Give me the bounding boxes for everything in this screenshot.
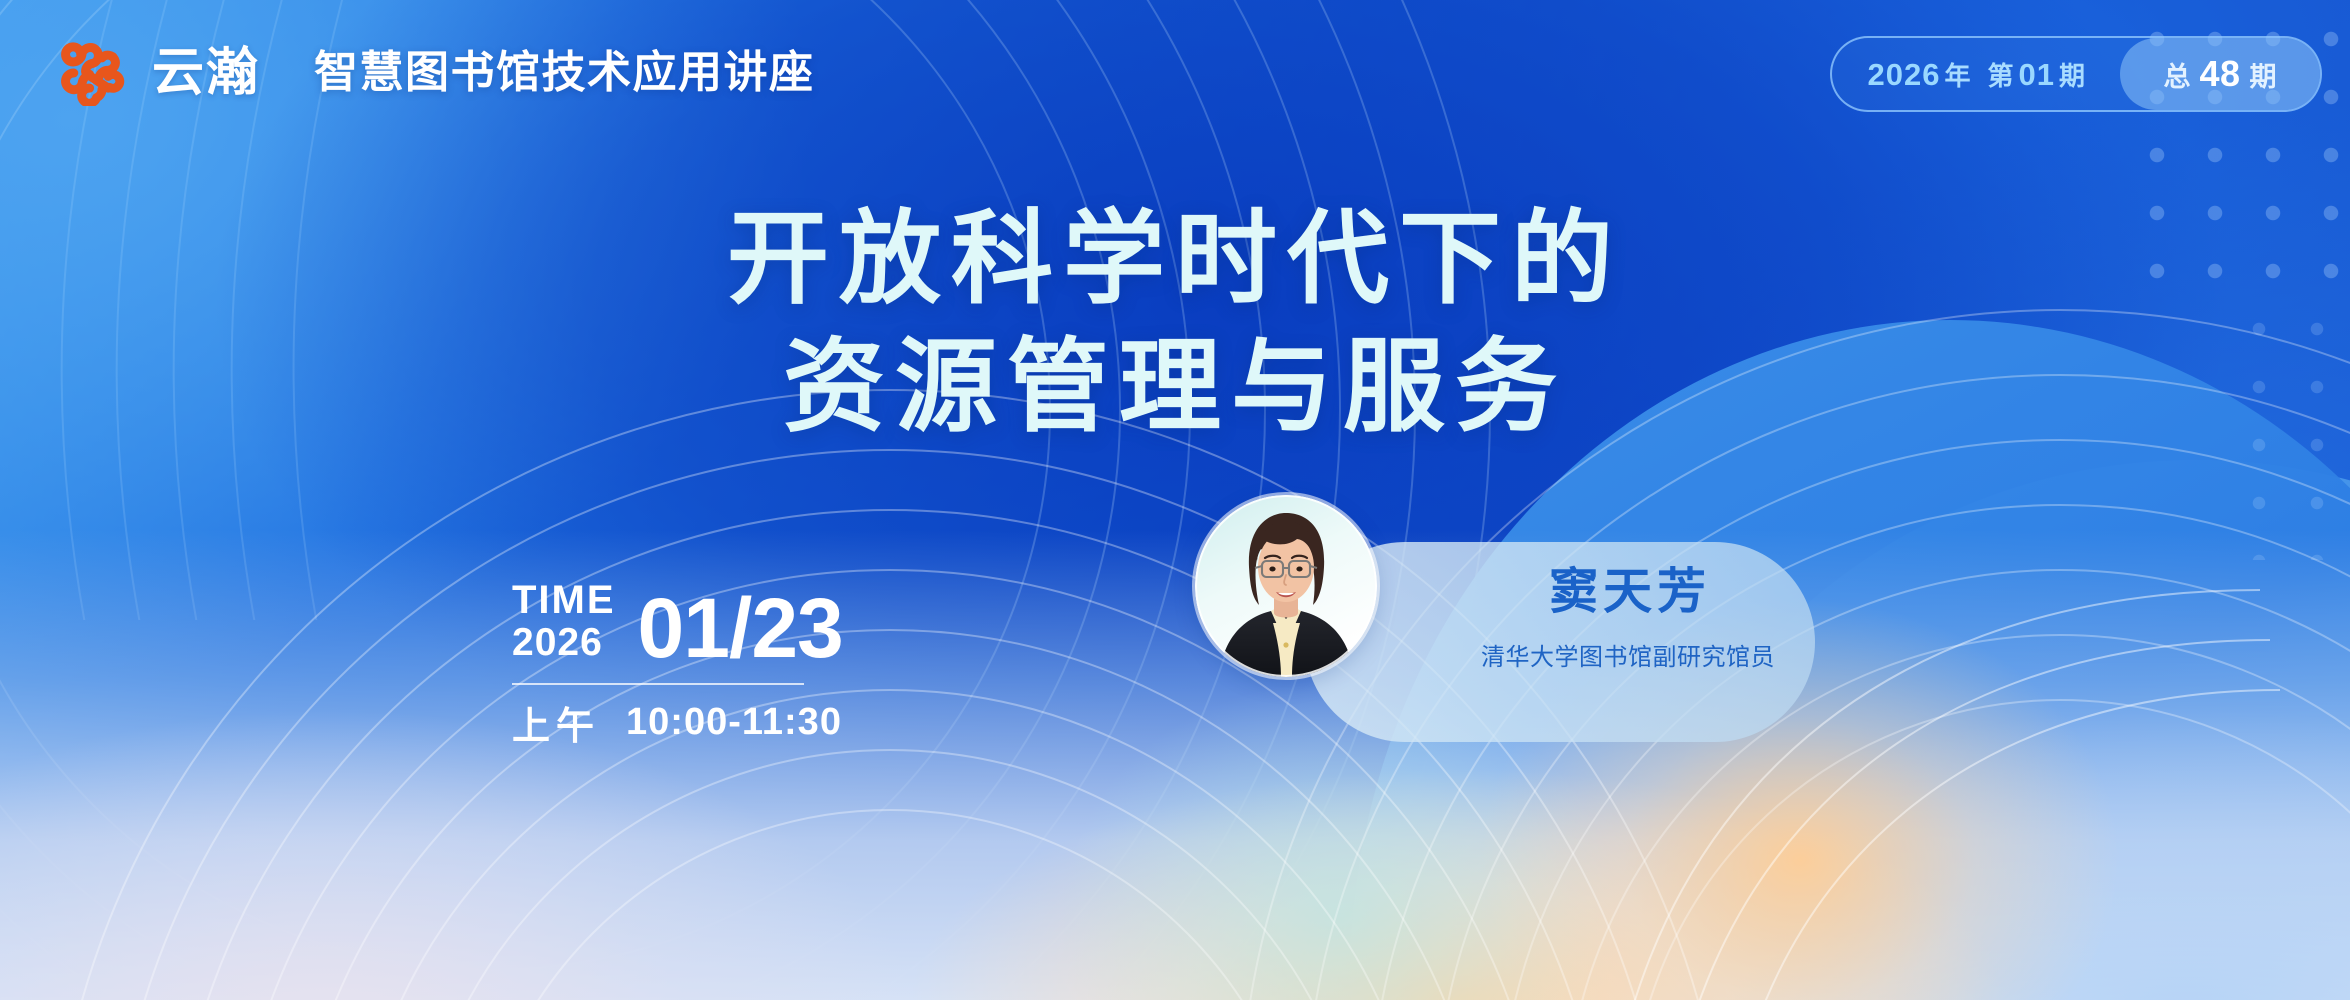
speaker-portrait-avatar [1195, 495, 1377, 677]
issue-ordinal-number: 01 [2019, 57, 2055, 93]
lecture-title: 开放科学时代下的 资源管理与服务 [0, 200, 2350, 447]
issue-year: 2026 [1868, 57, 1941, 93]
issue-total-label: 总 [2163, 55, 2190, 94]
cloud-swirl-icon [56, 40, 126, 106]
time-label: TIME [512, 580, 616, 621]
schedule-period: 上午 [512, 695, 600, 750]
speaker-card: 窦天芳 清华大学图书馆副研究馆员 [1195, 520, 1815, 770]
schedule-time-row: 上午 10:00-11:30 [512, 695, 843, 750]
lecture-poster-banner: 云瀚 智慧图书馆技术应用讲座 2026 年 第 01 期 总 48 期 开放科学… [0, 0, 2350, 1000]
schedule-date-row: TIME 2026 01/23 [512, 580, 843, 669]
issue-total-pill: 总 48 期 [2120, 38, 2320, 110]
schedule-date: 01/23 [638, 589, 843, 669]
speaker-affiliation: 清华大学图书馆副研究馆员 [1453, 644, 1803, 673]
issue-badge: 2026 年 第 01 期 总 48 期 [1830, 36, 2323, 112]
series-title: 智慧图书馆技术应用讲座 [314, 51, 815, 95]
issue-year-unit: 年 [1944, 56, 1971, 93]
issue-number-group: 2026 年 第 01 期 [1868, 56, 2087, 93]
lecture-title-line-1: 开放科学时代下的 [0, 200, 2350, 318]
schedule-time-range: 10:00-11:30 [626, 701, 842, 744]
schedule-block: TIME 2026 01/23 上午 10:00-11:30 [512, 580, 843, 750]
schedule-label-stack: TIME 2026 [512, 580, 616, 669]
issue-total-unit: 期 [2250, 55, 2277, 94]
issue-total-number: 48 [2199, 53, 2240, 95]
issue-ordinal-label: 第 [1987, 56, 2014, 93]
avatar-illustration [1195, 495, 1377, 677]
poster-header: 云瀚 智慧图书馆技术应用讲座 [56, 40, 815, 106]
schedule-divider [512, 683, 804, 685]
issue-ordinal-unit: 期 [2059, 56, 2086, 93]
schedule-year: 2026 [512, 623, 616, 663]
speaker-name: 窦天芳 [1465, 568, 1795, 617]
lecture-title-line-2: 资源管理与服务 [0, 328, 2350, 446]
brand-name: 云瀚 [152, 47, 260, 99]
